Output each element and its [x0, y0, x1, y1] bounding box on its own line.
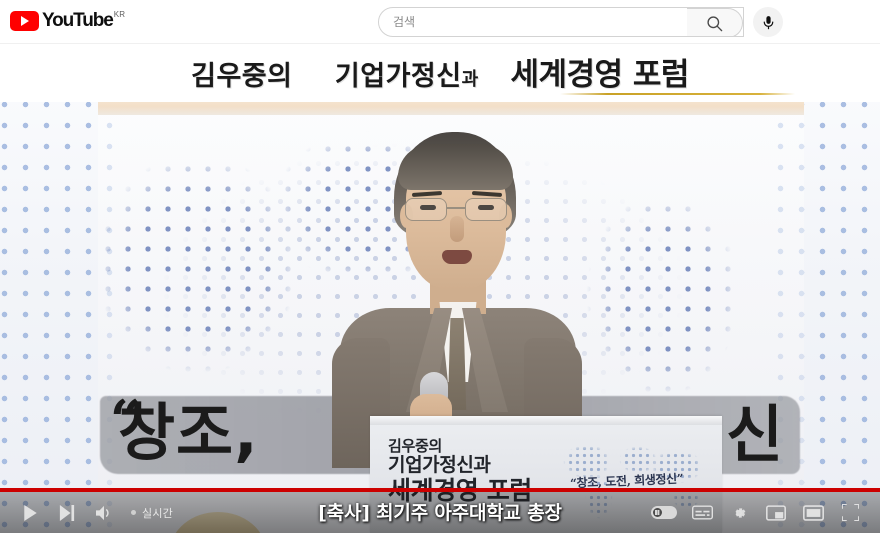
- forum-title-part2: 기업가정신: [335, 61, 462, 92]
- volume-button[interactable]: [87, 496, 121, 530]
- microphone-icon: [760, 14, 777, 31]
- youtube-country-code: KR: [114, 10, 126, 19]
- backdrop-quote-right: 신: [726, 396, 783, 474]
- forum-title-part1: 김우중의: [191, 61, 292, 92]
- player-controls-right: [646, 496, 880, 530]
- podium-line-2: 기업가정신과: [388, 455, 532, 476]
- podium-top-edge: [370, 416, 722, 425]
- subtitles-button[interactable]: [685, 496, 719, 530]
- miniplayer-icon: [766, 505, 786, 521]
- live-indicator[interactable]: 실시간: [131, 505, 173, 521]
- forum-title-banner: 김우중의 기업가정신과 세계경영 포럼: [0, 44, 880, 102]
- backdrop-dots-left: [0, 94, 114, 533]
- autoplay-toggle[interactable]: [651, 506, 677, 519]
- fullscreen-button[interactable]: [833, 496, 867, 530]
- forum-title-part3: 과: [462, 69, 479, 90]
- next-video-button[interactable]: [50, 496, 84, 530]
- player-controls: 실시간: [0, 492, 880, 533]
- player-controls-left: 실시간: [0, 496, 173, 530]
- speaker-figure: [332, 132, 582, 462]
- live-label-text: 실시간: [142, 505, 173, 521]
- play-icon: [23, 505, 38, 521]
- play-button[interactable]: [13, 496, 47, 530]
- podium-line-1: 김우중의: [388, 438, 532, 454]
- subtitles-cc-icon: [692, 505, 713, 520]
- glasses-bridge: [447, 207, 465, 209]
- glasses-lens-right: [465, 198, 507, 221]
- speaker-hair-front: [398, 144, 513, 190]
- live-dot-icon: [131, 510, 136, 515]
- next-track-icon: [59, 505, 75, 521]
- youtube-watch-page: YouTube KR: [0, 0, 880, 533]
- volume-icon: [95, 505, 113, 521]
- settings-button[interactable]: [722, 496, 756, 530]
- search-button[interactable]: [687, 8, 743, 37]
- youtube-play-icon: [10, 11, 39, 31]
- forum-title-part4: 세계경영 포럼: [510, 57, 688, 93]
- settings-gear-icon: [730, 504, 748, 522]
- forum-title-underline: [560, 93, 795, 95]
- youtube-masthead: YouTube KR: [0, 0, 880, 44]
- voice-search-button[interactable]: [753, 7, 783, 37]
- youtube-wordmark: YouTube: [42, 10, 113, 31]
- video-player[interactable]: “ 창조, 신: [0, 44, 880, 533]
- search-box[interactable]: [378, 7, 744, 37]
- search-area: [378, 7, 783, 37]
- theater-mode-button[interactable]: [796, 496, 830, 530]
- fullscreen-icon: [842, 504, 859, 521]
- backdrop-quote-left: 창조,: [118, 394, 259, 472]
- speaker-nose: [450, 216, 464, 242]
- search-icon: [705, 14, 724, 33]
- youtube-logo[interactable]: YouTube KR: [10, 10, 125, 34]
- forum-title: 김우중의 기업가정신과 세계경영 포럼: [0, 49, 880, 94]
- glasses-lens-left: [405, 198, 447, 221]
- search-input[interactable]: [379, 8, 688, 36]
- theater-mode-icon: [803, 505, 824, 521]
- miniplayer-button[interactable]: [759, 496, 793, 530]
- speaker-mouth: [442, 250, 472, 264]
